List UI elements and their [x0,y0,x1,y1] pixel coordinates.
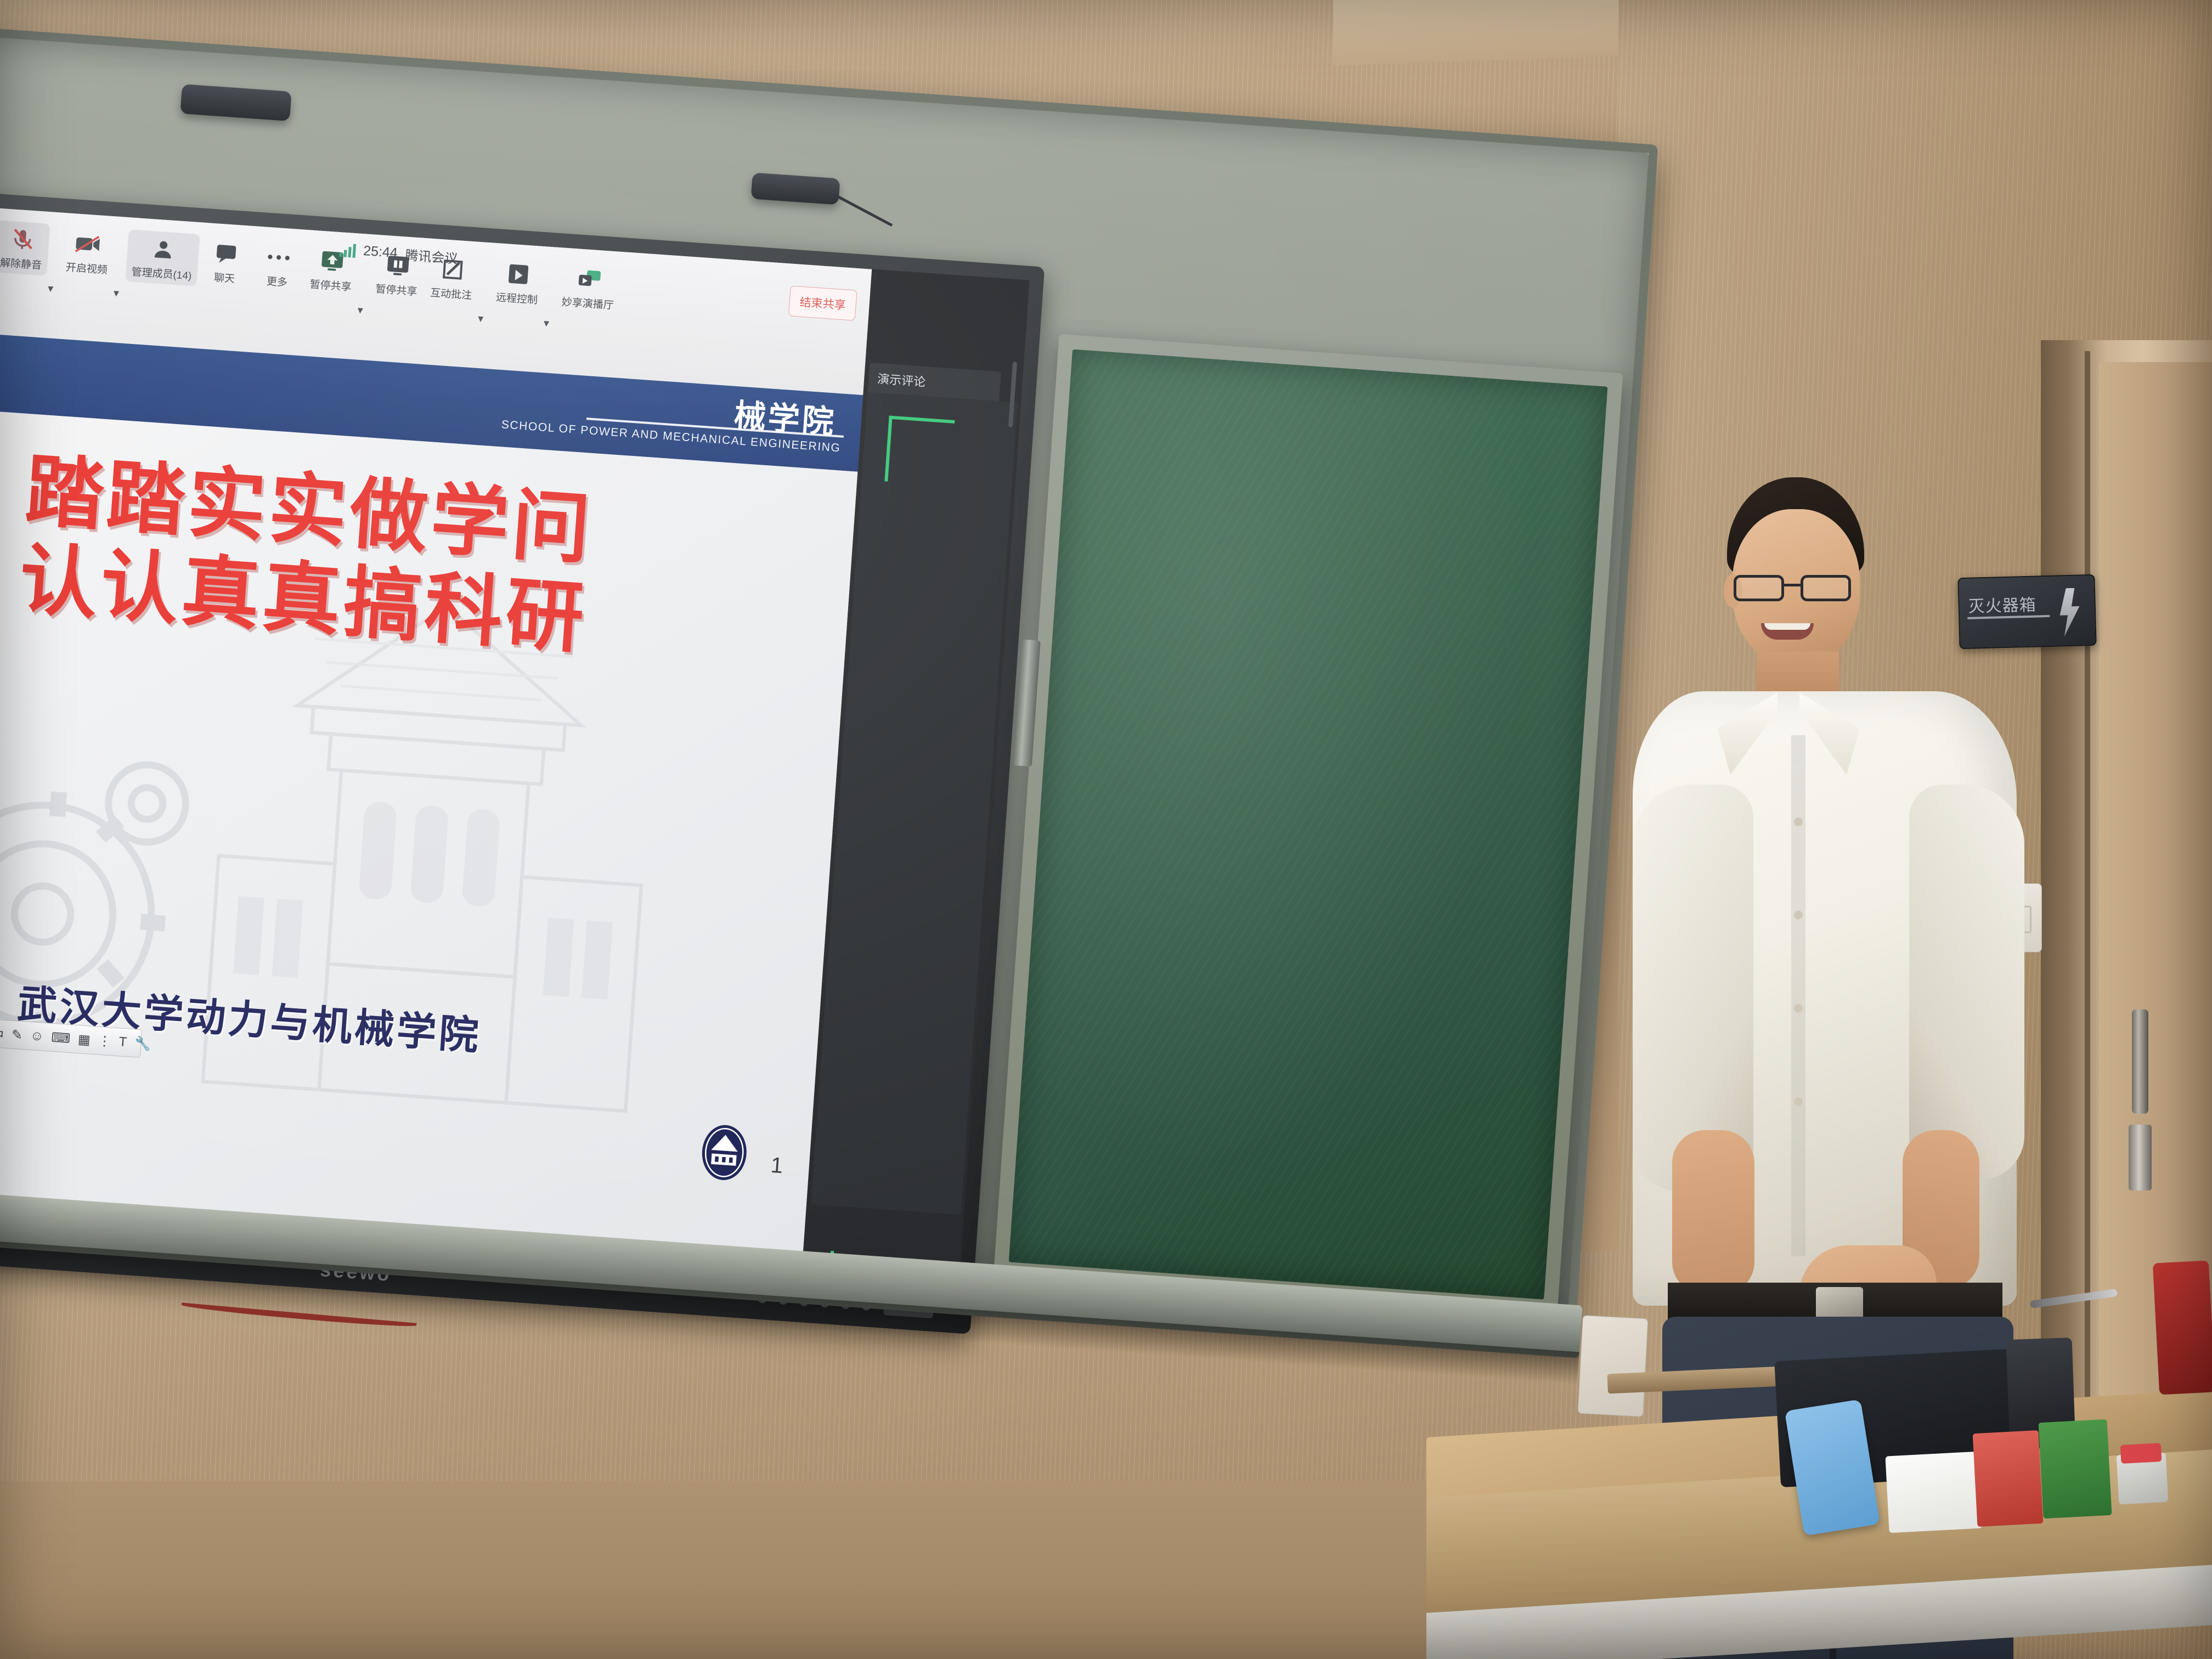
shared-screen-area: 解除静音 ▾ 开启视频 [0,207,872,1269]
toolbar-item-more[interactable]: 更多 [251,238,305,294]
display-screen[interactable]: 解除静音 ▾ 开启视频 [0,207,1030,1280]
ime-item-pen[interactable]: ✎ [11,1026,23,1043]
whu-crest-icon [696,1121,753,1185]
toolbar-item-studio-label: 妙享演播厅 [561,294,614,312]
ppt-slide[interactable]: 踏踏实实做学问 认认真真搞科研 武汉大学动力与机械学院 /Wed [0,410,857,1281]
toolbar-item-pause-share-label: 暂停共享 [375,281,418,298]
ime-item-text[interactable]: T [119,1034,128,1050]
ime-item-emoji[interactable]: ☺ [30,1028,44,1045]
lecture-room-photo: 灭火器箱 [0,0,2212,1659]
ime-item-keyboard[interactable]: ⌨ [51,1029,71,1046]
more-dots-icon [263,243,294,272]
paper-cup[interactable] [2117,1453,2169,1505]
ime-item-more[interactable]: ⋮ [98,1032,112,1049]
end-share-button[interactable]: 结束共享 [788,285,857,320]
chevron-down-icon[interactable]: ▾ [477,311,484,325]
meeting-app-name: 腾讯会议 [404,244,458,267]
toolbar-item-studio[interactable]: 妙享演播厅 [556,259,622,316]
slide-number: 1 [770,1153,783,1178]
share-frame-corner-top-left [884,416,955,486]
smart-display-panel[interactable]: 解除静音 ▾ 开启视频 [0,193,1045,1334]
person-belt-buckle [1816,1287,1863,1320]
toolbar-item-unmute[interactable]: 解除静音 [0,220,50,275]
green-snack-box[interactable] [2039,1419,2112,1519]
tissue-box[interactable] [1885,1452,1982,1533]
ime-item-tools[interactable]: 🔧 [134,1035,151,1052]
toolbar-item-start-video[interactable]: 开启视频 [60,225,116,280]
participants-icon [148,235,179,264]
red-chair-back [2153,1260,2212,1395]
board-assembly: 解除静音 ▾ 开启视频 [0,27,1674,1470]
chevron-down-icon[interactable]: ▾ [357,303,364,317]
chat-bubble-icon [211,240,242,268]
ime-item-chinese[interactable]: 中 [0,1024,4,1044]
door-handle[interactable] [2132,1009,2148,1114]
door-jamb [2085,351,2090,1492]
eyeglasses-icon [1731,572,1862,605]
green-chalkboard[interactable] [994,334,1623,1315]
chevron-down-icon[interactable]: ▾ [113,286,120,300]
signal-bars-icon [339,242,356,258]
video-stage-icon [574,265,605,294]
person-sleeve-right [1909,785,2024,1180]
door-lock-icon[interactable] [2129,1125,2152,1190]
toolbar-item-annotate-label: 互动批注 [430,285,472,302]
camera-off-icon [72,230,104,258]
toolbar-item-more-label: 更多 [266,273,288,290]
red-snack-box[interactable] [1973,1430,2044,1527]
person-smile [1761,623,1814,640]
chevron-down-icon[interactable]: ▾ [47,281,54,296]
toolbar-item-unmute-label: 解除静音 [0,255,42,272]
chalkboard-surface[interactable] [1009,349,1608,1300]
toolbar-item-participants[interactable]: 管理成员(14) [125,229,200,286]
toolbar-item-participants-label: 管理成员(14) [131,264,192,283]
slide-title: 踏踏实实做学问 认认真真搞科研 [16,447,596,663]
chevron-down-icon[interactable]: ▾ [543,316,550,330]
microphone-muted-icon [7,225,38,254]
remote-control-icon [503,260,534,289]
person-forearm-left [1672,1130,1754,1295]
ime-item-panel[interactable]: ▦ [77,1031,91,1048]
side-panel-tab-label: 演示评论 [877,369,926,390]
person-shirt-placket [1791,735,1805,1256]
person-sleeve-left [1633,785,1753,1190]
toolbar-item-chat[interactable]: 聊天 [199,234,252,290]
meeting-timer: 25:44 [363,243,398,261]
toolbar-item-remote-control[interactable]: 远程控制 [490,255,546,311]
toolbar-item-share-label: 暂停共享 [309,276,352,294]
toolbar-item-start-video-label: 开启视频 [65,259,108,276]
toolbar-item-remote-control-label: 远程控制 [495,289,538,307]
toolbar-item-chat-label: 聊天 [213,269,235,286]
